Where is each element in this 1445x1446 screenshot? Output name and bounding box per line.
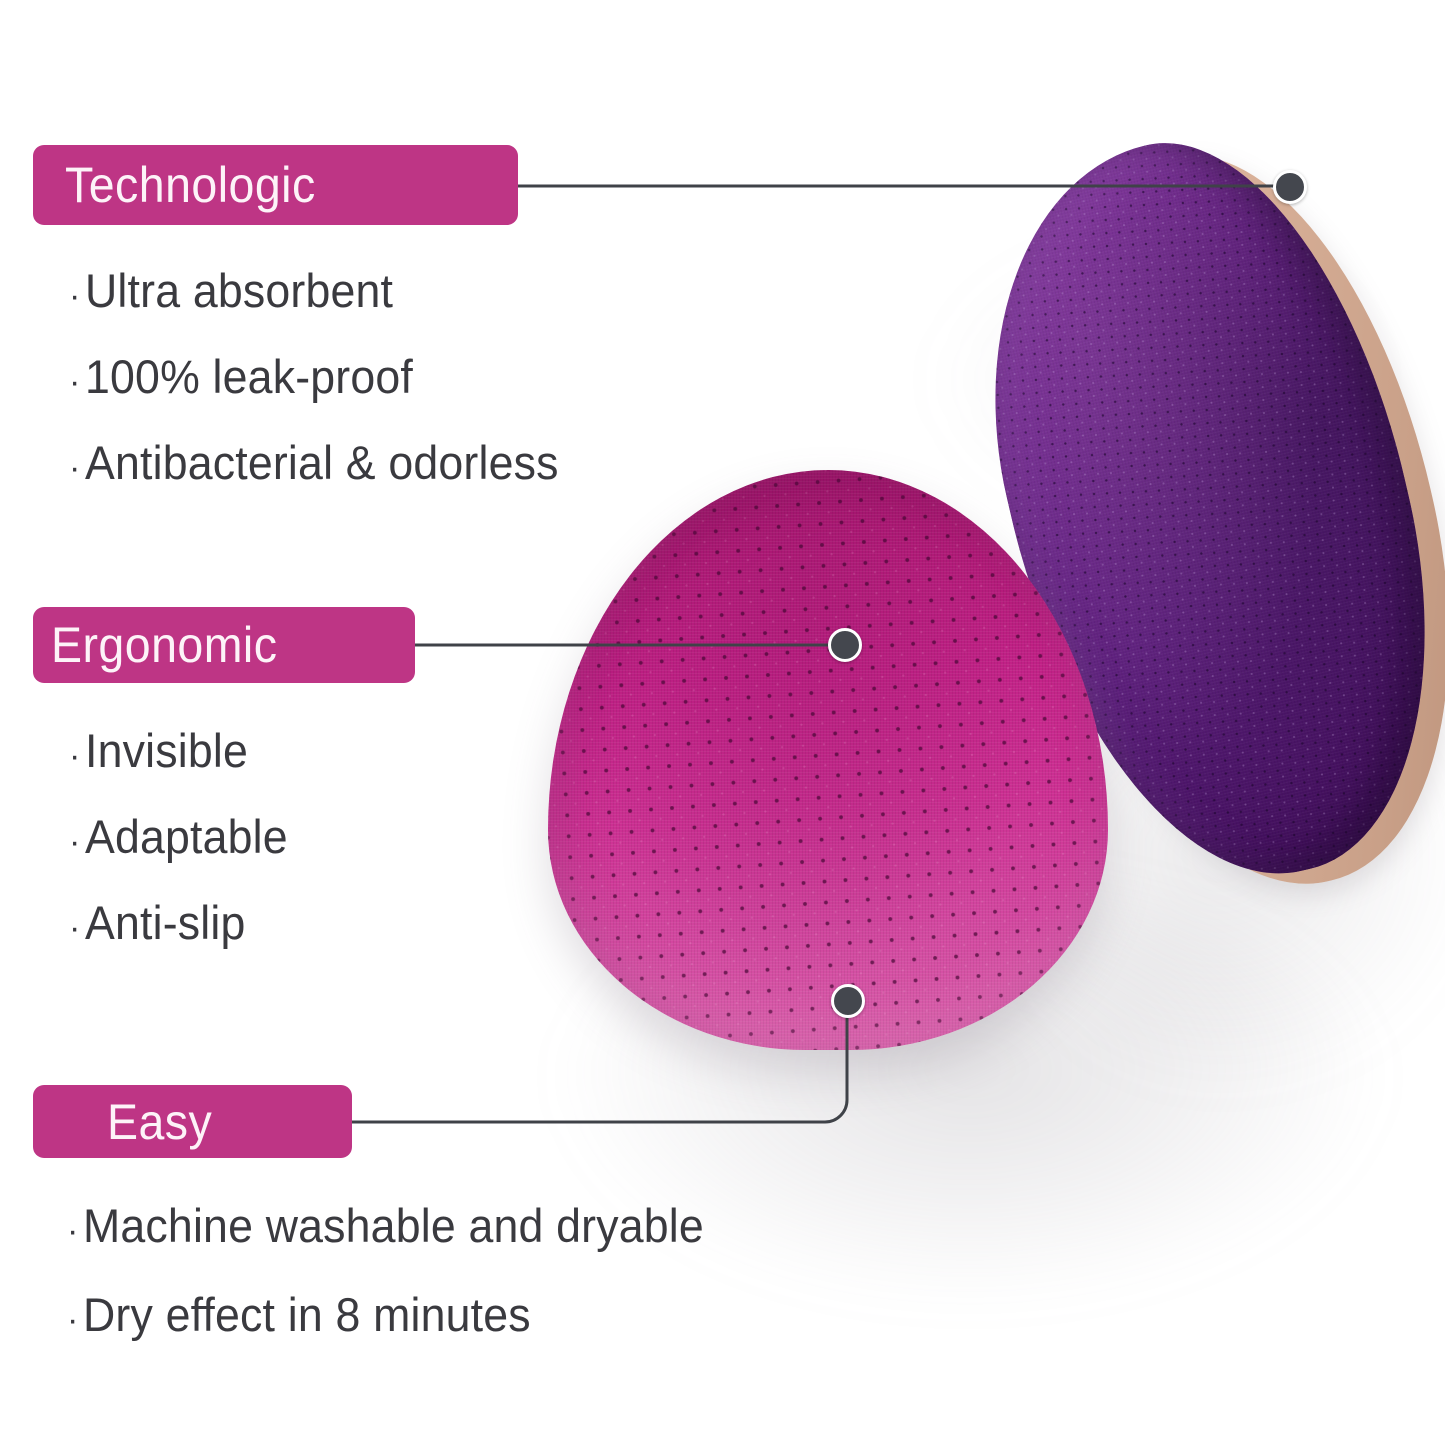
bullet-item: · Anti-slip (69, 899, 415, 946)
bullet-item: · Machine washable and dryable (67, 1202, 737, 1249)
callout-dot-easy[interactable] (831, 984, 865, 1018)
bullet-text: Machine washable and dryable (83, 1202, 704, 1249)
bullet-item: · Ultra absorbent (69, 267, 584, 314)
bullet-glyph-icon: · (69, 739, 80, 773)
bullet-item: · Adaptable (69, 813, 415, 860)
feature-block-technologic: Technologic · Ultra absorbent · 100% lea… (33, 145, 584, 525)
bullet-text: Adaptable (85, 813, 288, 860)
bullet-item: · Dry effect in 8 minutes (67, 1291, 737, 1338)
product-infographic: Technologic · Ultra absorbent · 100% lea… (0, 0, 1445, 1446)
pink-breast-pad (548, 470, 1108, 1050)
bullet-glyph-icon: · (67, 1214, 78, 1248)
feature-title-easy: Easy (107, 1097, 212, 1147)
feature-badge-ergonomic[interactable]: Ergonomic (33, 607, 415, 683)
feature-title-ergonomic: Ergonomic (51, 620, 277, 670)
bullet-glyph-icon: · (67, 1303, 78, 1337)
bullet-text: Antibacterial & odorless (85, 439, 559, 486)
bullet-item: · Invisible (69, 727, 415, 774)
bullet-glyph-icon: · (69, 365, 80, 399)
feature-block-ergonomic: Ergonomic · Invisible · Adaptable · Anti… (33, 607, 415, 985)
feature-title-technologic: Technologic (65, 160, 316, 210)
feature-bullet-list-technologic: · Ultra absorbent · 100% leak-proof · An… (69, 267, 584, 486)
bullet-item: · Antibacterial & odorless (69, 439, 584, 486)
feature-block-easy: Easy · Machine washable and dryable · Dr… (33, 1085, 737, 1380)
bullet-text: Dry effect in 8 minutes (83, 1291, 531, 1338)
callout-dot-technologic[interactable] (1273, 170, 1307, 204)
bullet-text: Invisible (85, 727, 248, 774)
bullet-text: Anti-slip (85, 899, 246, 946)
bullet-glyph-icon: · (69, 825, 80, 859)
feature-bullet-list-ergonomic: · Invisible · Adaptable · Anti-slip (69, 727, 415, 946)
feature-badge-easy[interactable]: Easy (33, 1085, 352, 1158)
feature-badge-technologic[interactable]: Technologic (33, 145, 518, 225)
bullet-text: 100% leak-proof (85, 353, 413, 400)
bullet-text: Ultra absorbent (85, 267, 393, 314)
bullet-glyph-icon: · (69, 911, 80, 945)
bullet-item: · 100% leak-proof (69, 353, 584, 400)
callout-dot-ergonomic[interactable] (828, 628, 862, 662)
feature-bullet-list-easy: · Machine washable and dryable · Dry eff… (67, 1202, 737, 1338)
bullet-glyph-icon: · (69, 451, 80, 485)
bullet-glyph-icon: · (69, 279, 80, 313)
